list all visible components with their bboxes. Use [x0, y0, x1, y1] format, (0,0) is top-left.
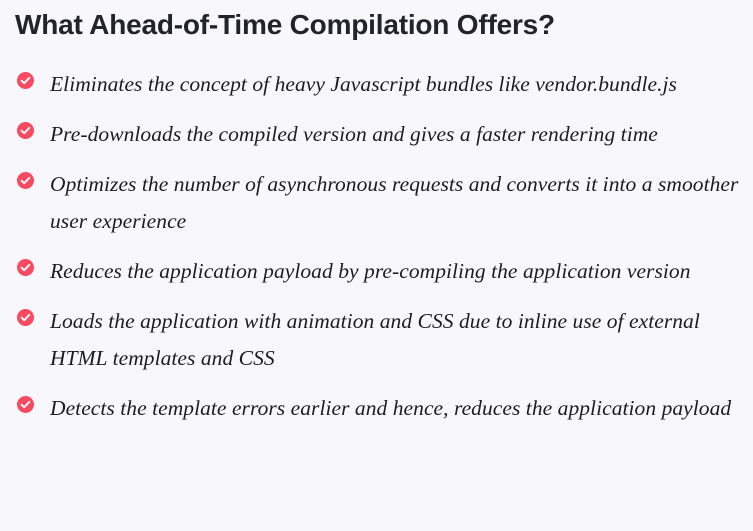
check-circle-icon — [17, 72, 34, 89]
list-item-label: Pre-downloads the compiled version and g… — [50, 116, 739, 153]
page-title: What Ahead-of-Time Compilation Offers? — [15, 6, 555, 44]
aot-benefits-section: What Ahead-of-Time Compilation Offers? E… — [0, 0, 753, 531]
list-item: Reduces the application payload by pre-c… — [0, 253, 753, 290]
benefits-list: Eliminates the concept of heavy Javascri… — [0, 66, 753, 427]
check-circle-icon — [17, 172, 34, 189]
check-circle-icon — [17, 309, 34, 326]
list-item: Pre-downloads the compiled version and g… — [0, 116, 753, 153]
list-item: Optimizes the number of asynchronous req… — [0, 166, 753, 240]
check-circle-icon — [17, 122, 34, 139]
check-circle-icon — [17, 259, 34, 276]
list-item: Detects the template errors earlier and … — [0, 390, 753, 427]
list-item-label: Detects the template errors earlier and … — [50, 390, 739, 427]
list-item-label: Optimizes the number of asynchronous req… — [50, 166, 739, 240]
list-item: Loads the application with animation and… — [0, 303, 753, 377]
check-circle-icon — [17, 396, 34, 413]
list-item-label: Reduces the application payload by pre-c… — [50, 253, 739, 290]
list-item-label: Loads the application with animation and… — [50, 303, 739, 377]
list-item-label: Eliminates the concept of heavy Javascri… — [50, 66, 739, 103]
list-item: Eliminates the concept of heavy Javascri… — [0, 66, 753, 103]
